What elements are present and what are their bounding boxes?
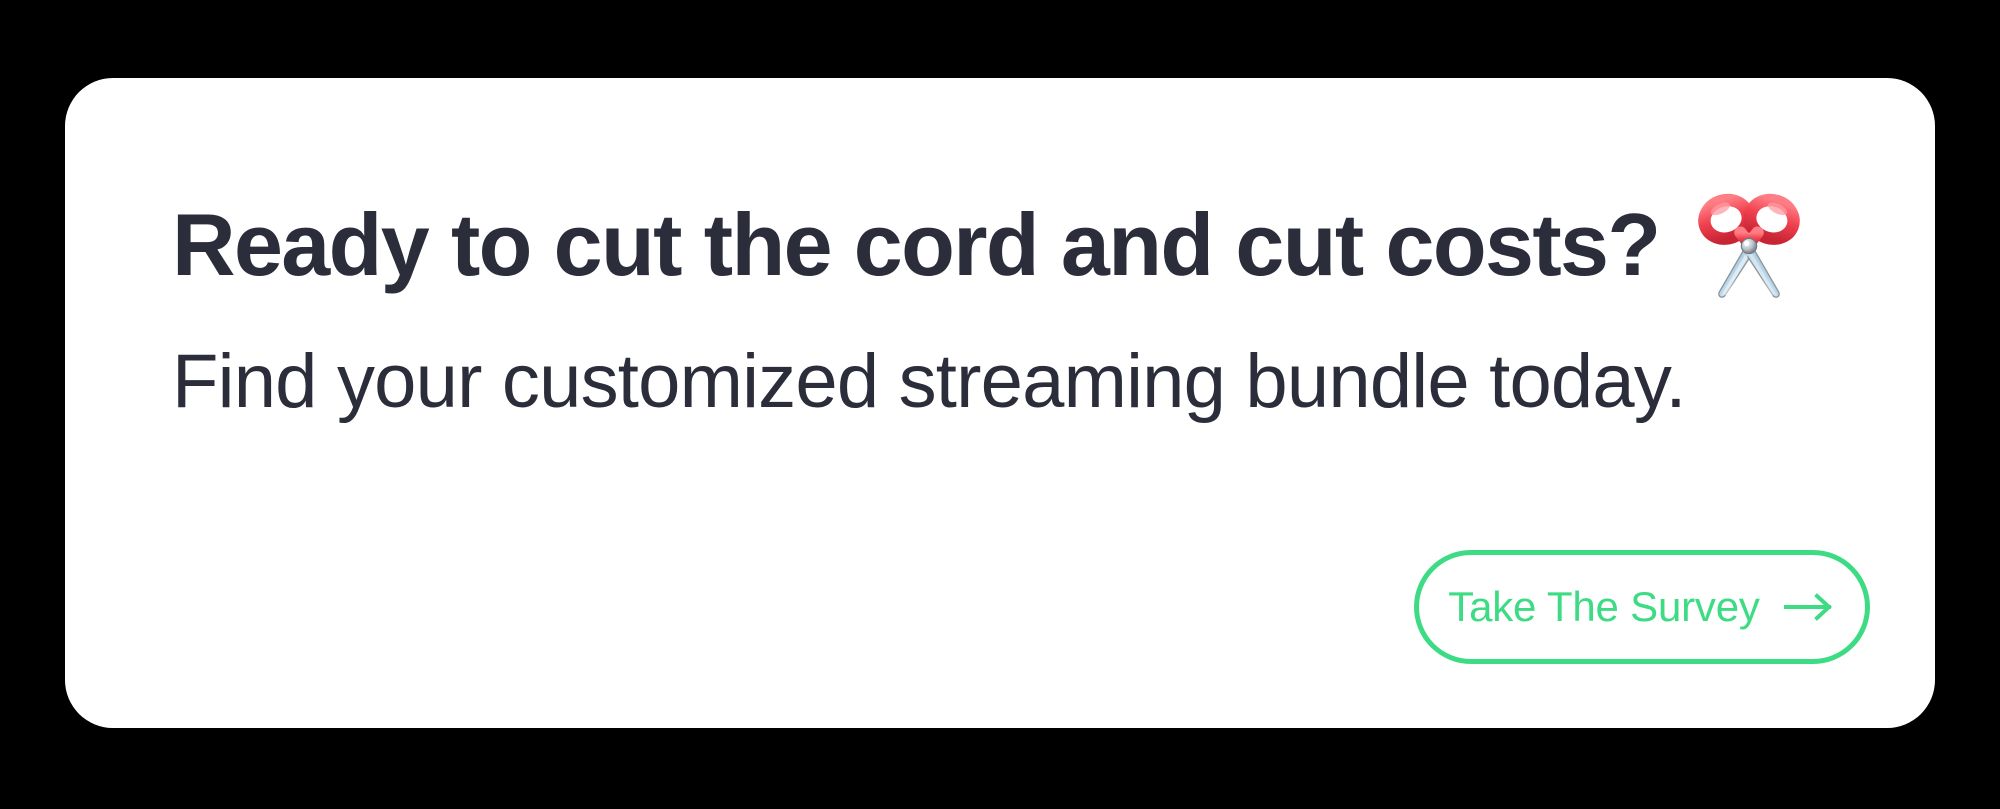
arrow-right-icon — [1784, 592, 1836, 622]
take-survey-button-label: Take The Survey — [1448, 586, 1759, 628]
page-title: Ready to cut the cord and cut costs? — [172, 198, 1660, 291]
page-subtitle: Find your customized streaming bundle to… — [172, 340, 1686, 424]
scissors-emoji — [1688, 185, 1810, 307]
headline-row: Ready to cut the cord and cut costs? — [172, 170, 1810, 320]
cta-row: Take The Survey — [65, 550, 1935, 664]
promo-card: Ready to cut the cord and cut costs? — [65, 78, 1935, 728]
take-survey-button[interactable]: Take The Survey — [1414, 550, 1870, 664]
page-background: Ready to cut the cord and cut costs? — [0, 0, 2000, 809]
